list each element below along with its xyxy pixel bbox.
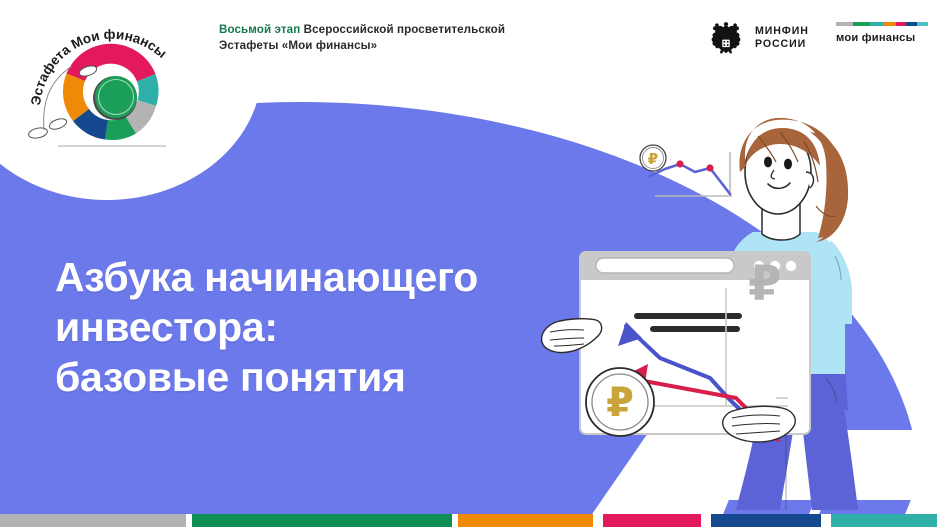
page-title-line-2: инвестора: [55, 302, 478, 352]
moi-finansy-bar-segment [836, 22, 853, 26]
svg-text:₽: ₽ [648, 150, 658, 168]
moi-finansy-bar-segment [870, 22, 883, 26]
header-eyebrow: Восьмой этап Всероссийской просветительс… [219, 22, 505, 53]
bottom-strip-segment [192, 514, 452, 527]
bottom-strip-segment [458, 514, 593, 527]
page-title: Азбука начинающего инвестора: базовые по… [55, 252, 478, 402]
person-head [739, 118, 848, 242]
page-title-line-3: базовые понятия [55, 352, 478, 402]
header-eyebrow-bold: Восьмой этап [219, 23, 300, 36]
moi-finansy-wordmark: мои финансы [836, 32, 928, 44]
bottom-color-strip [0, 514, 937, 527]
double-headed-eagle-icon [706, 18, 746, 58]
moi-finansy-bar-segment [883, 22, 896, 26]
bottom-strip-segment [701, 514, 711, 527]
bottom-strip-segment [821, 514, 831, 527]
moi-finansy-bar-segment [853, 22, 870, 26]
moi-finansy-bar-segment [896, 22, 906, 26]
page-title-line-1: Азбука начинающего [55, 252, 478, 302]
mini-line-chart-icon: ₽ [640, 145, 732, 196]
minfin-line-1: МИНФИН [755, 25, 809, 38]
minfin-wordmark: МИНФИН РОССИИ [755, 25, 809, 51]
bottom-strip-segment [593, 514, 603, 527]
bottom-strip-segment [603, 514, 701, 527]
moi-finansy-bar-segment [917, 22, 928, 26]
moi-finansy-bar-segment [906, 22, 917, 26]
bottom-strip-segment [0, 514, 186, 527]
svg-text:₽: ₽ [748, 256, 781, 312]
presentation-slide: Эстафета Мои финансы Восьмой этап Всерос… [0, 0, 937, 527]
moi-finansy-color-bar [836, 22, 928, 26]
header-eyebrow-rest: Всероссийской просветительской [300, 23, 505, 36]
minfin-line-2: РОССИИ [755, 38, 809, 51]
minfin-logo: МИНФИН РОССИИ [706, 18, 809, 58]
illustration-investor: ₽ [540, 110, 937, 510]
svg-text:₽: ₽ [606, 380, 634, 426]
moi-finansy-logo: мои финансы [836, 22, 928, 44]
ruble-coin-large-icon: ₽ [586, 368, 654, 436]
bottom-strip-segment [711, 514, 821, 527]
estafeta-logo: Эстафета Мои финансы [16, 8, 206, 156]
bottom-strip-segment [831, 514, 937, 527]
header-eyebrow-line2: Эстафеты «Мои финансы» [219, 39, 377, 52]
